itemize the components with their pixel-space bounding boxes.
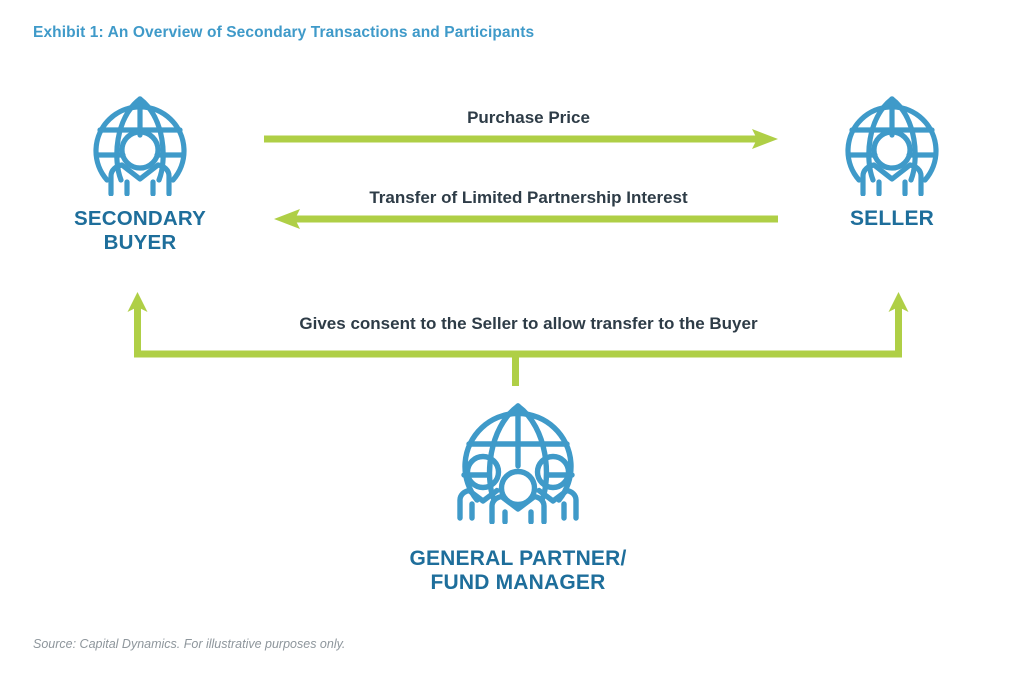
page-title: Exhibit 1: An Overview of Secondary Tran…: [33, 24, 534, 42]
diagram-canvas: Exhibit 1: An Overview of Secondary Tran…: [0, 0, 1024, 675]
globe-person-icon: [81, 88, 199, 201]
node-secondary-buyer: SECONDARY BUYER: [40, 88, 240, 255]
arrow-purchase-price: [264, 129, 778, 149]
node-general-partner: GENERAL PARTNER/ FUND MANAGER: [388, 396, 648, 596]
node-label-secondary-buyer: SECONDARY BUYER: [74, 207, 206, 255]
arrow-gp-consent: [128, 292, 909, 386]
node-label-general-partner: GENERAL PARTNER/ FUND MANAGER: [409, 547, 626, 596]
node-label-seller: SELLER: [850, 207, 934, 231]
globe-three-people-icon: [447, 396, 589, 529]
globe-person-icon: [833, 88, 951, 201]
flow-label-gp-consent: Gives consent to the Seller to allow tra…: [0, 314, 1024, 334]
arrow-transfer-of-lp-interest: [274, 209, 778, 229]
node-seller: SELLER: [812, 88, 972, 231]
source-note: Source: Capital Dynamics. For illustrati…: [33, 637, 345, 651]
